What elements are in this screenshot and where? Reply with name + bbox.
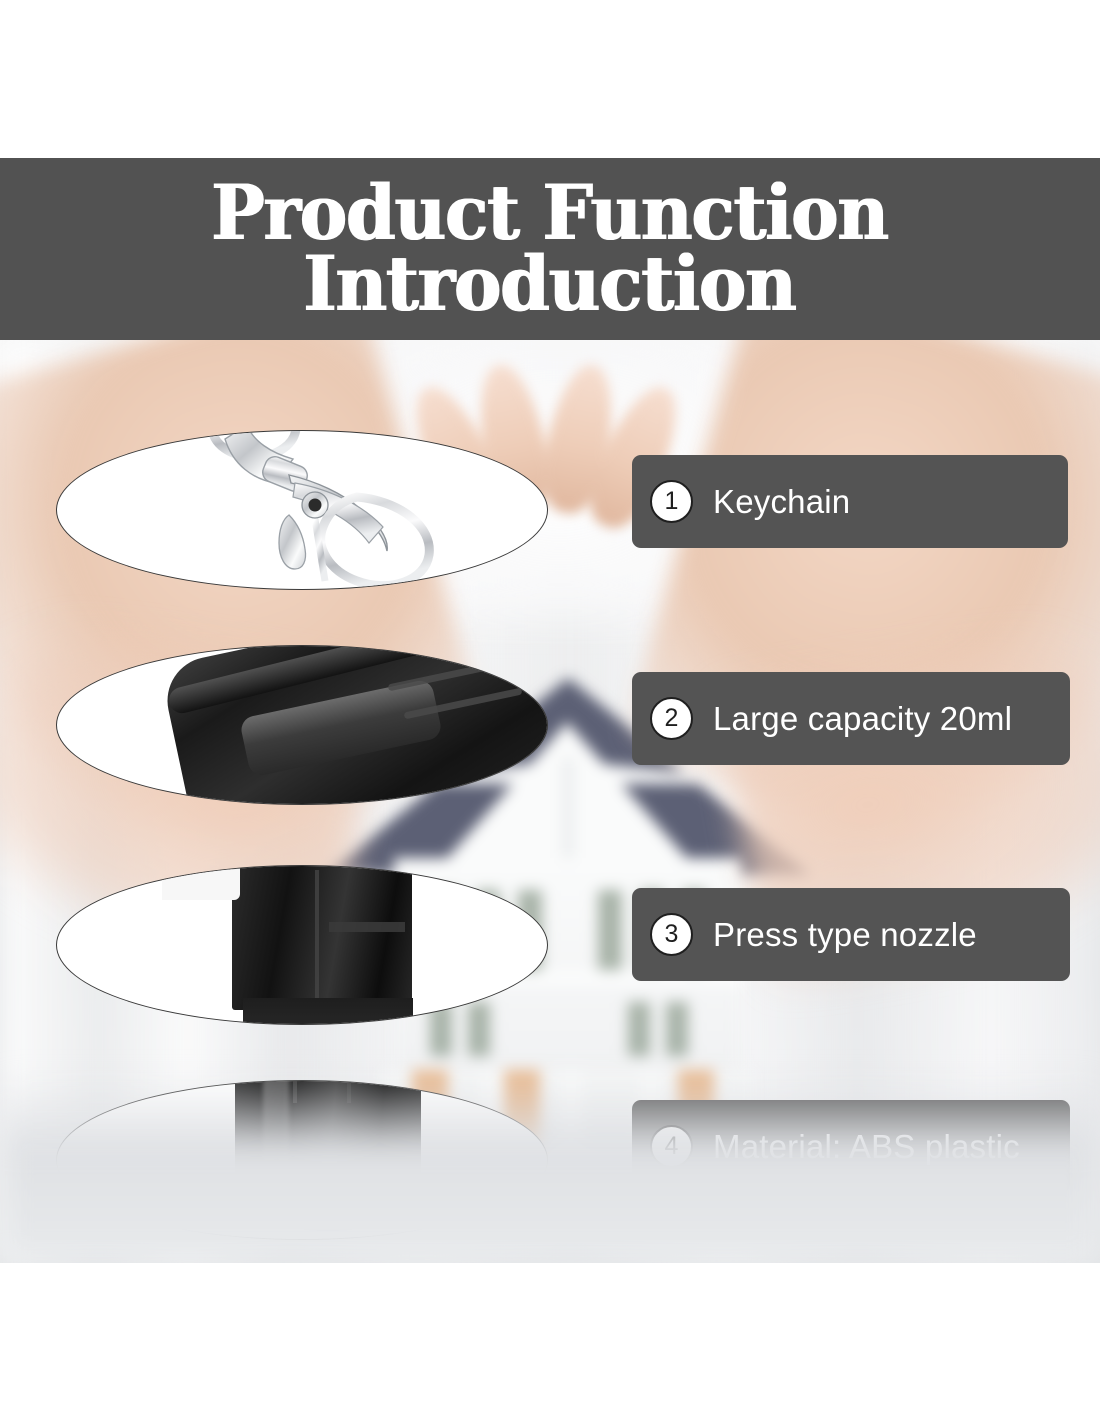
press-nozzle-art: [232, 865, 412, 1010]
nozzle-seam: [315, 870, 319, 1010]
callout-oval-inner: [57, 431, 547, 589]
infographic-page: Product Function Introduction: [0, 0, 1100, 1422]
callout-oval-keychain: [56, 430, 548, 590]
feature-label-1[interactable]: 1 Keychain: [632, 455, 1068, 548]
feature-number-badge: 1: [650, 480, 693, 523]
feature-label-3[interactable]: 3 Press type nozzle: [632, 888, 1070, 981]
header-band: Product Function Introduction: [0, 158, 1100, 340]
feature-label-text: Press type nozzle: [713, 916, 977, 954]
callout-oval-nozzle: [56, 865, 548, 1025]
feature-number-badge: 2: [650, 697, 693, 740]
nozzle-base: [243, 998, 413, 1025]
feature-number-badge: 3: [650, 913, 693, 956]
nozzle-notch: [162, 865, 240, 900]
photo-stage: 1 Keychain 2 Large capacity 20ml: [0, 340, 1100, 1263]
feature-label-2[interactable]: 2 Large capacity 20ml: [632, 672, 1070, 765]
title-line-2: Introduction: [304, 249, 796, 320]
feature-label-text: Keychain: [713, 483, 850, 521]
feature-label-text: Large capacity 20ml: [713, 700, 1012, 738]
house-window: [628, 1002, 650, 1056]
callout-oval-inner: [57, 646, 547, 804]
house-gable-post: [562, 758, 574, 866]
callout-oval-bottle-body: [56, 645, 548, 805]
nozzle-step: [329, 922, 405, 932]
keychain-clasp-icon: [57, 431, 547, 589]
house-window: [666, 1002, 688, 1056]
desk-surface-blur: [0, 1073, 1100, 1263]
nozzle-lip: [232, 865, 412, 866]
page-title: Product Function Introduction: [0, 158, 1100, 340]
callout-oval-inner: [57, 866, 547, 1024]
